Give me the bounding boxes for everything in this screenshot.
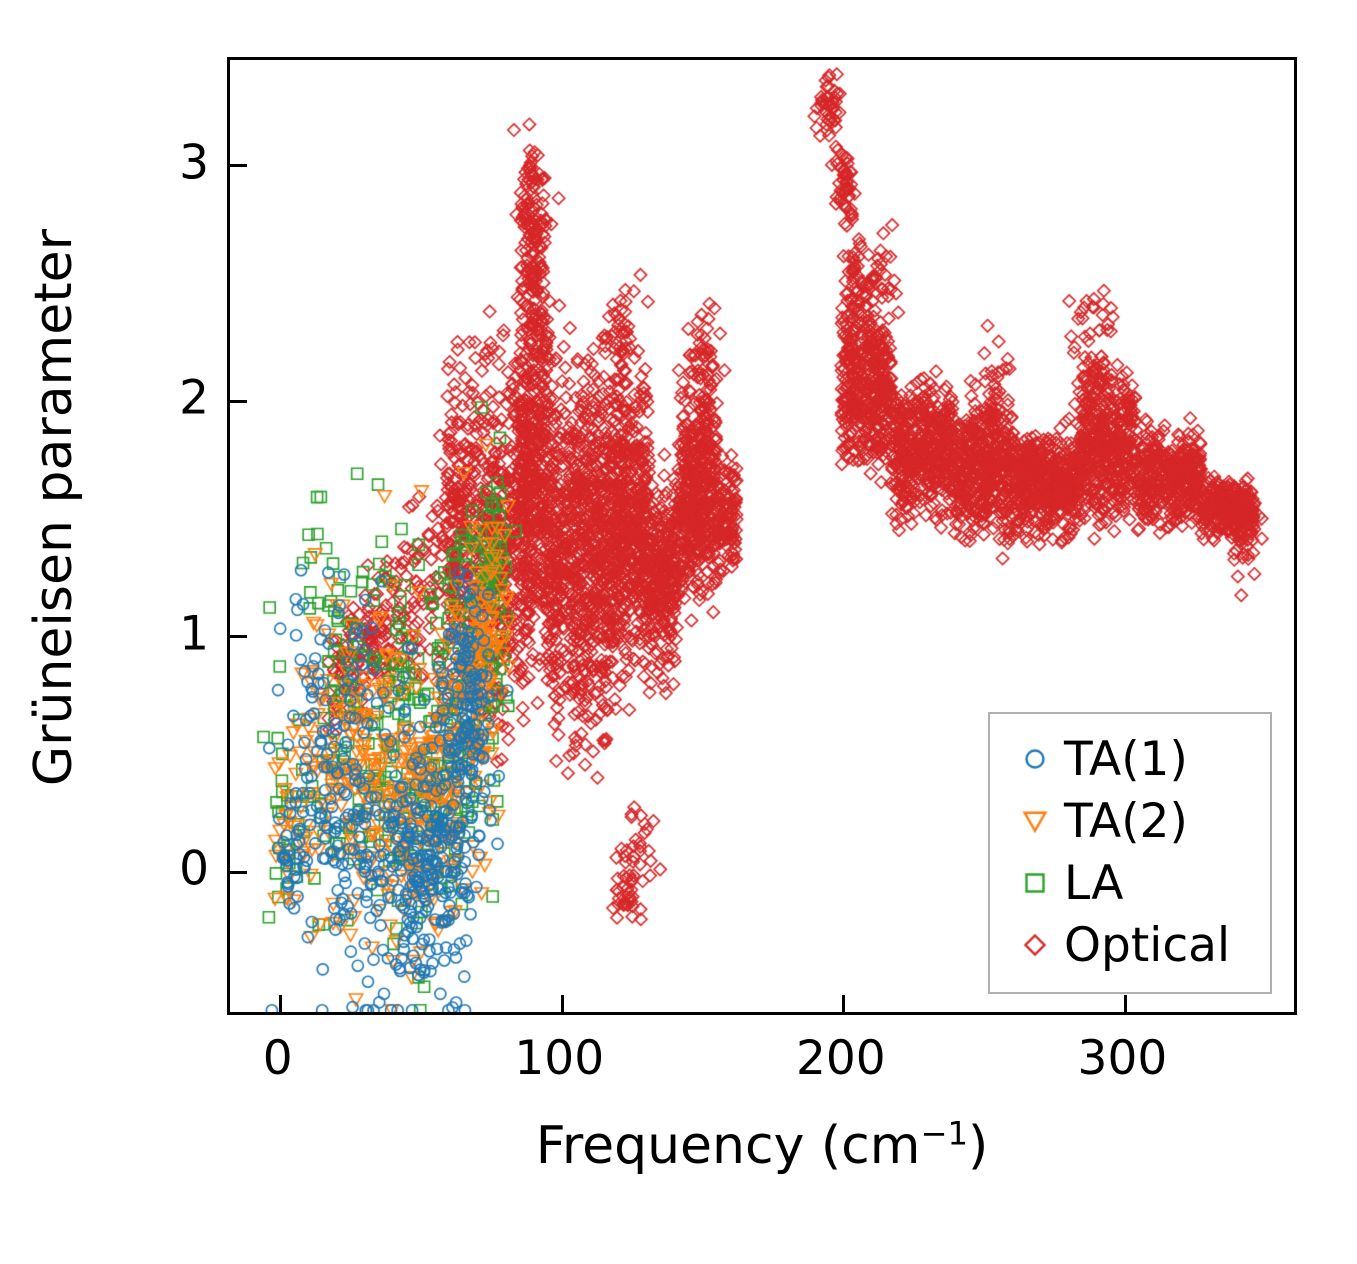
legend-item-optical[interactable]: Optical	[1006, 914, 1254, 976]
legend-box: TA(1)TA(2)LAOptical	[988, 712, 1272, 994]
x-axis-label-exponent: −1	[920, 1115, 968, 1153]
legend-item-la[interactable]: LA	[1006, 852, 1254, 914]
y-axis-label-container: Grüneisen parameter	[0, 0, 110, 1015]
legend-label: TA(1)	[1064, 736, 1188, 783]
y-tick-label-0: 0	[179, 846, 209, 893]
x-axis-label-prefix: Frequency (cm	[536, 1116, 921, 1176]
legend-item-ta2[interactable]: TA(2)	[1006, 790, 1254, 852]
legend-label: LA	[1064, 860, 1123, 907]
y-tick-label-3: 3	[179, 139, 209, 186]
legend-label: TA(2)	[1064, 798, 1188, 845]
legend-label: Optical	[1064, 922, 1230, 969]
grueneisen-scatter-figure: Grüneisen parameter 01002003000123 Frequ…	[0, 0, 1357, 1264]
y-tick-label-1: 1	[179, 610, 209, 657]
legend-item-ta1[interactable]: TA(1)	[1006, 728, 1254, 790]
x-tick-label-200: 200	[796, 1035, 886, 1082]
x-axis-label: Frequency (cm−1)	[227, 1118, 1297, 1175]
legend-square-icon	[1006, 865, 1064, 901]
y-axis-label: Grüneisen parameter	[26, 229, 83, 786]
x-tick-label-0: 0	[263, 1035, 293, 1082]
legend-triangle-down-icon	[1006, 803, 1064, 839]
x-tick-label-300: 300	[1078, 1035, 1168, 1082]
x-axis-label-suffix: )	[968, 1116, 988, 1176]
x-tick-label-100: 100	[514, 1035, 604, 1082]
legend-circle-icon	[1006, 741, 1064, 777]
legend-diamond-icon	[1006, 927, 1064, 963]
y-tick-label-2: 2	[179, 375, 209, 422]
